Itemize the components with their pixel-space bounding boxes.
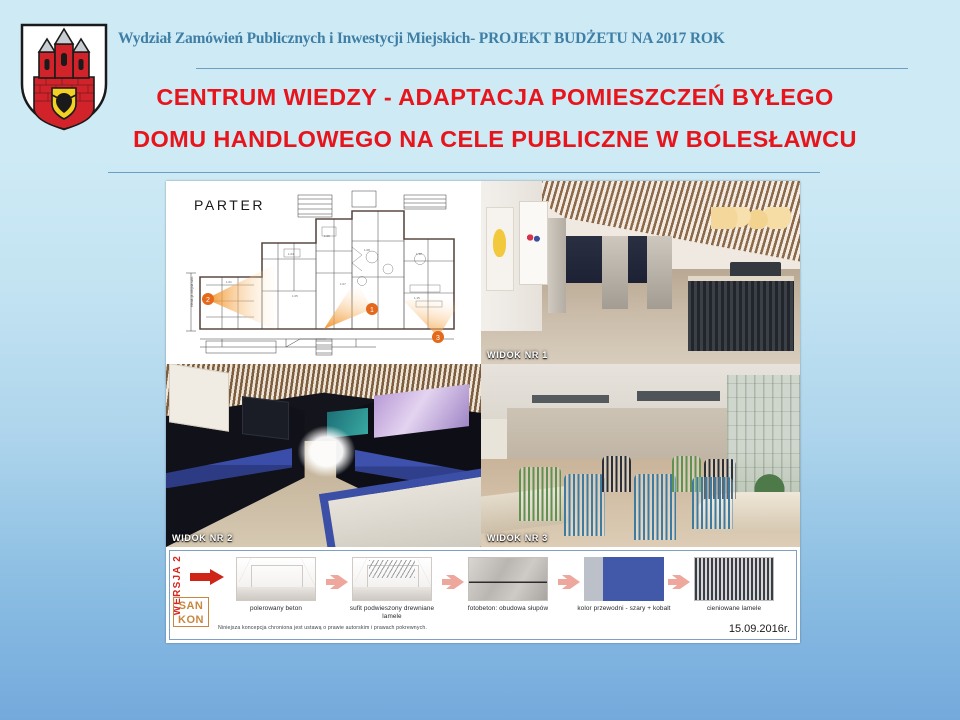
svg-text:1.08: 1.08: [364, 248, 370, 252]
material-caption-4: kolor przewodni - szary + kobalt: [576, 605, 672, 613]
copyright-note: Niniejsza koncepcja chroniona jest ustaw…: [218, 625, 427, 631]
reception-desk: [688, 276, 793, 351]
view-tag-2: WIDOK NR 2: [172, 533, 233, 543]
floor-plan-drawing: 2 1 3 1.011.04 1.061.08 1.121.15 1.051.0…: [166, 181, 481, 364]
svg-text:1.04: 1.04: [288, 252, 294, 256]
screen-left: [242, 396, 289, 440]
pendant-lamp-1: [532, 395, 609, 403]
material-item-3: fotobeton: obudowa słupów: [460, 557, 556, 613]
floor-plan-panel: PARTER: [166, 181, 481, 364]
daylight-glow: [298, 426, 355, 477]
render-view-2: WIDOK NR 2: [166, 364, 481, 547]
chair-blue-2: [634, 474, 675, 540]
column-3: [647, 236, 673, 309]
arrow-right-icon: [190, 569, 224, 585]
cafe-render: [481, 364, 800, 547]
view-tag-3: WIDOK NR 3: [487, 533, 548, 543]
pendant-lamps: [711, 207, 794, 229]
studio-logo: SAN KON: [173, 597, 209, 627]
column-2: [602, 236, 628, 309]
pendant-lamp-2: [637, 391, 720, 400]
svg-text:1.12: 1.12: [416, 252, 422, 256]
render-view-1: WIDOK NR 1: [481, 181, 800, 364]
chair-dark-1: [602, 456, 631, 493]
material-swatch-wood-lamella-ceiling: [352, 557, 432, 601]
svg-text:2: 2: [206, 297, 210, 304]
svg-text:1: 1: [370, 307, 374, 314]
material-item-1: polerowany beton: [228, 557, 324, 613]
material-caption-3: fotobeton: obudowa słupów: [460, 605, 556, 613]
material-item-4: kolor przewodni - szary + kobalt: [576, 557, 672, 613]
poster-left: [169, 364, 229, 431]
chair-blue-1: [564, 474, 605, 536]
render-view-3: WIDOK NR 3: [481, 364, 800, 547]
svg-text:elewacja witryna szkl.: elewacja witryna szkl.: [190, 276, 194, 307]
svg-text:1.07: 1.07: [340, 282, 346, 286]
studio-logo-line-1: SAN: [174, 599, 208, 613]
page-title-line-2: DOMU HANDLOWEGO NA CELE PUBLICZNE W BOLE…: [100, 128, 890, 152]
lobby-render: [481, 181, 800, 364]
header-divider-bottom: [108, 172, 820, 173]
artwork-middle: [519, 201, 548, 285]
coat-of-arms-icon: [18, 22, 110, 132]
artwork-left: [486, 207, 515, 291]
material-swatch-grey-cobalt: [584, 557, 664, 601]
material-swatch-shaded-lamella: [694, 557, 774, 601]
material-item-2: sufit podwieszony drewniane lamele: [344, 557, 440, 621]
material-swatch-photo-concrete: [468, 557, 548, 601]
page-title-line-1: CENTRUM WIEDZY - ADAPTACJA POMIESZCZEŃ B…: [100, 86, 890, 110]
svg-text:1.06: 1.06: [324, 234, 330, 238]
material-item-5: cieniowane lamele: [686, 557, 782, 613]
chair-green-1: [519, 467, 560, 522]
project-image-collage: PARTER: [166, 181, 800, 643]
material-swatch-polished-concrete: [236, 557, 316, 601]
svg-text:1.01: 1.01: [226, 280, 232, 284]
material-caption-5: cieniowane lamele: [686, 605, 782, 613]
page-title: CENTRUM WIEDZY - ADAPTACJA POMIESZCZEŃ B…: [100, 86, 890, 151]
svg-text:3: 3: [436, 335, 440, 342]
department-header-text: Wydział Zamówień Publicznych i Inwestycj…: [118, 30, 908, 48]
svg-text:1.15: 1.15: [414, 296, 420, 300]
material-caption-2: sufit podwieszony drewniane lamele: [344, 605, 440, 621]
corridor-render: [166, 364, 481, 547]
materials-strip: WERSJA 2 SAN KON Niniejsza koncepcja chr…: [166, 547, 800, 643]
slide-header: Wydział Zamówień Publicznych i Inwestycj…: [0, 0, 960, 178]
chair-blue-3: [692, 477, 733, 528]
strip-date: 15.09.2016r.: [729, 623, 790, 635]
header-divider-top: [196, 68, 908, 69]
studio-logo-line-2: KON: [174, 613, 208, 627]
svg-text:1.05: 1.05: [292, 294, 298, 298]
view-tag-1: WIDOK NR 1: [487, 350, 548, 360]
column-1: [548, 218, 566, 313]
material-caption-1: polerowany beton: [228, 605, 324, 613]
